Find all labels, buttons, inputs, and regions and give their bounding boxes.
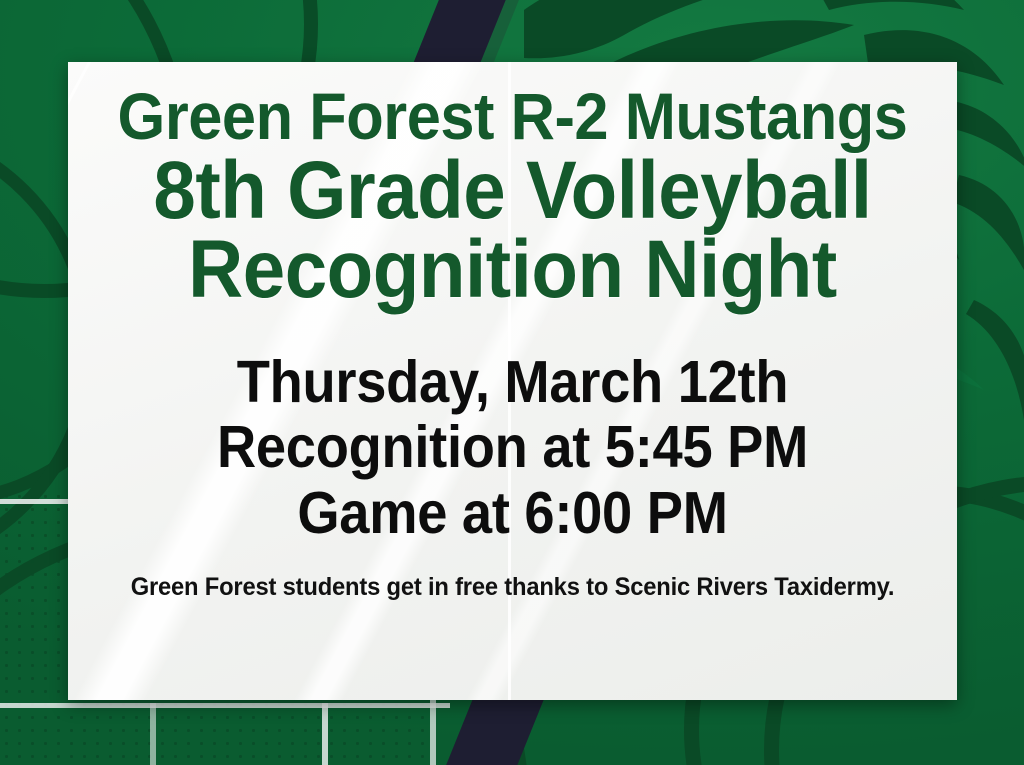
announcement-card: Green Forest R-2 Mustangs 8th Grade Voll… [68, 62, 957, 700]
poster: Green Forest R-2 Mustangs 8th Grade Voll… [0, 0, 1024, 765]
divider-line [0, 703, 450, 708]
divider-line [322, 703, 328, 765]
event-date: Thursday, March 12th [104, 354, 922, 412]
divider-line [150, 703, 156, 765]
sponsor-footnote: Green Forest students get in free thanks… [90, 573, 935, 602]
divider-line [430, 700, 436, 765]
headline-line-2: 8th Grade Volleyball [99, 153, 926, 228]
recognition-time: Recognition at 5:45 PM [104, 419, 922, 477]
game-time: Game at 6:00 PM [104, 485, 922, 543]
headline-line-1: Green Forest R-2 Mustangs [99, 86, 926, 147]
headline-line-3: Recognition Night [99, 232, 926, 307]
